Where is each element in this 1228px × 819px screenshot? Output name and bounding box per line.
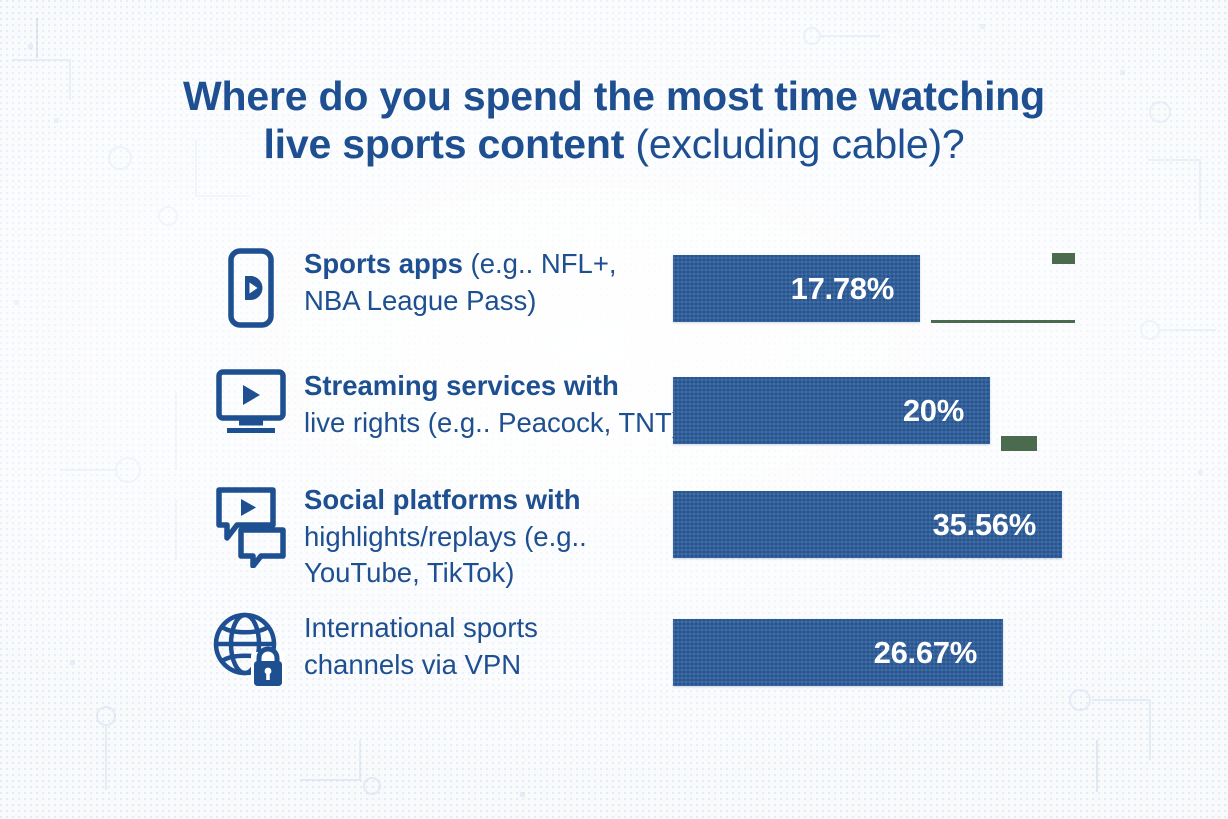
bar: 17.78%	[673, 255, 920, 322]
label-regular: (e.g.. NFL+,	[463, 248, 617, 279]
chart-row-label: Streaming services with live rights (e.g…	[304, 368, 674, 441]
bar: 26.67%	[673, 619, 1003, 686]
chart-row-label: International sports channels via VPN	[304, 610, 674, 683]
bar-track: 20%	[673, 377, 1168, 447]
bar-value-label: 35.56%	[933, 507, 1062, 543]
label-regular: live rights (e.g.. Peacock, TNT)	[304, 407, 681, 438]
bar-track: 26.67%	[673, 619, 1168, 689]
monitor-play-icon	[208, 368, 294, 454]
chat-play-icon	[208, 482, 294, 568]
label-bold: Streaming services with	[304, 370, 619, 401]
bar-value-label: 26.67%	[874, 635, 1003, 671]
accent-rule	[931, 320, 1075, 323]
label-regular: International sports	[304, 612, 538, 643]
bar-value-label: 17.78%	[791, 271, 920, 307]
bar-track: 35.56%	[673, 491, 1168, 561]
globe-lock-icon	[208, 610, 294, 696]
label-bold: Social platforms with	[304, 484, 581, 515]
bar: 35.56%	[673, 491, 1062, 558]
mobile-play-icon	[208, 246, 294, 332]
label-regular: channels via VPN	[304, 649, 521, 680]
bar-track: 17.78%	[673, 255, 1168, 325]
chart-row-label: Sports apps (e.g.. NFL+, NBA League Pass…	[304, 246, 674, 319]
label-regular: highlights/replays (e.g..	[304, 521, 587, 552]
texture-hairline	[36, 18, 38, 58]
label-regular: NBA League Pass)	[304, 285, 536, 316]
accent-mark-top	[1052, 253, 1075, 264]
bar: 20%	[673, 377, 990, 444]
accent-mark-mid	[1001, 436, 1037, 451]
chart-rows: Sports apps (e.g.. NFL+, NBA League Pass…	[0, 0, 1228, 819]
label-regular: YouTube, TikTok)	[304, 557, 514, 588]
bar-value-label: 20%	[903, 393, 990, 429]
texture-hairline	[1096, 740, 1098, 792]
label-bold: Sports apps	[304, 248, 463, 279]
infographic-canvas: Where do you spend the most time watchin…	[0, 0, 1228, 819]
chart-row-label: Social platforms with highlights/replays…	[304, 482, 674, 592]
